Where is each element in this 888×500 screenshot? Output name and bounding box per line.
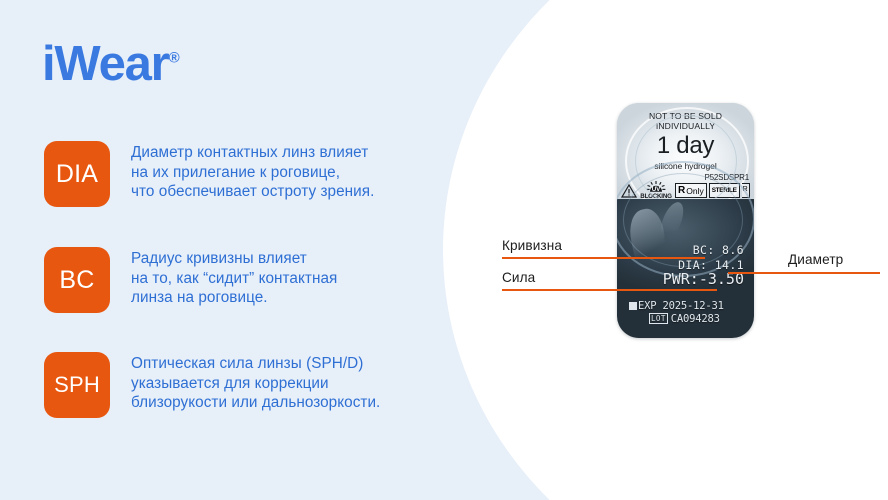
white-panel-fill [760,0,888,500]
lot-number: CA094283 [671,313,720,325]
brand-logo: iWear® [42,40,180,89]
feature-text-sph: Оптическая сила линзы (SPH/D) указываетс… [131,352,380,413]
value-base-curve: BC: 8.6 [663,243,744,258]
hourglass-icon [629,302,637,310]
blister-wear-schedule: 1 day [617,132,754,159]
callout-line-power [502,289,717,291]
badge-dia: DIA [44,141,110,207]
callout-line-curvature [502,257,705,259]
brand-name: iWear [42,37,169,91]
badge-bc: BC [44,247,110,313]
badge-sph: SPH [44,352,110,418]
feature-row-sph: SPH Оптическая сила линзы (SPH/D) указыв… [44,352,380,418]
feature-row-bc: BC Радиус кривизны влияет на то, как “си… [44,247,337,313]
registered-trademark-icon: ® [169,50,180,67]
blister-prescription-values: BC: 8.6 DIA: 14.1 PWR:-3.50 [663,243,744,287]
blister-pack-image: NOT TO BE SOLD INDIVIDUALLY 1 day silico… [617,103,754,338]
blister-lot: LOTCA094283 [649,313,720,325]
callout-label-diameter: Диаметр [788,252,843,267]
expiry-text: EXP 2025-12-31 [638,300,724,312]
feature-text-dia: Диаметр контактных линз влияет на их при… [131,141,374,202]
callout-line-diameter [728,272,880,274]
blister-expiry: EXP 2025-12-31 [629,299,724,313]
callout-label-curvature: Кривизна [502,238,562,253]
lot-icon: LOT [649,313,668,324]
feature-row-dia: DIA Диаметр контактных линз влияет на их… [44,141,374,207]
feature-text-bc: Радиус кривизны влияет на то, как “сидит… [131,247,337,308]
slide-canvas: iWear® DIA Диаметр контактных линз влияе… [0,0,888,500]
callout-label-power: Сила [502,270,535,285]
blister-not-sold-notice: NOT TO BE SOLD INDIVIDUALLY [617,111,754,131]
value-power: PWR:-3.50 [663,272,744,287]
